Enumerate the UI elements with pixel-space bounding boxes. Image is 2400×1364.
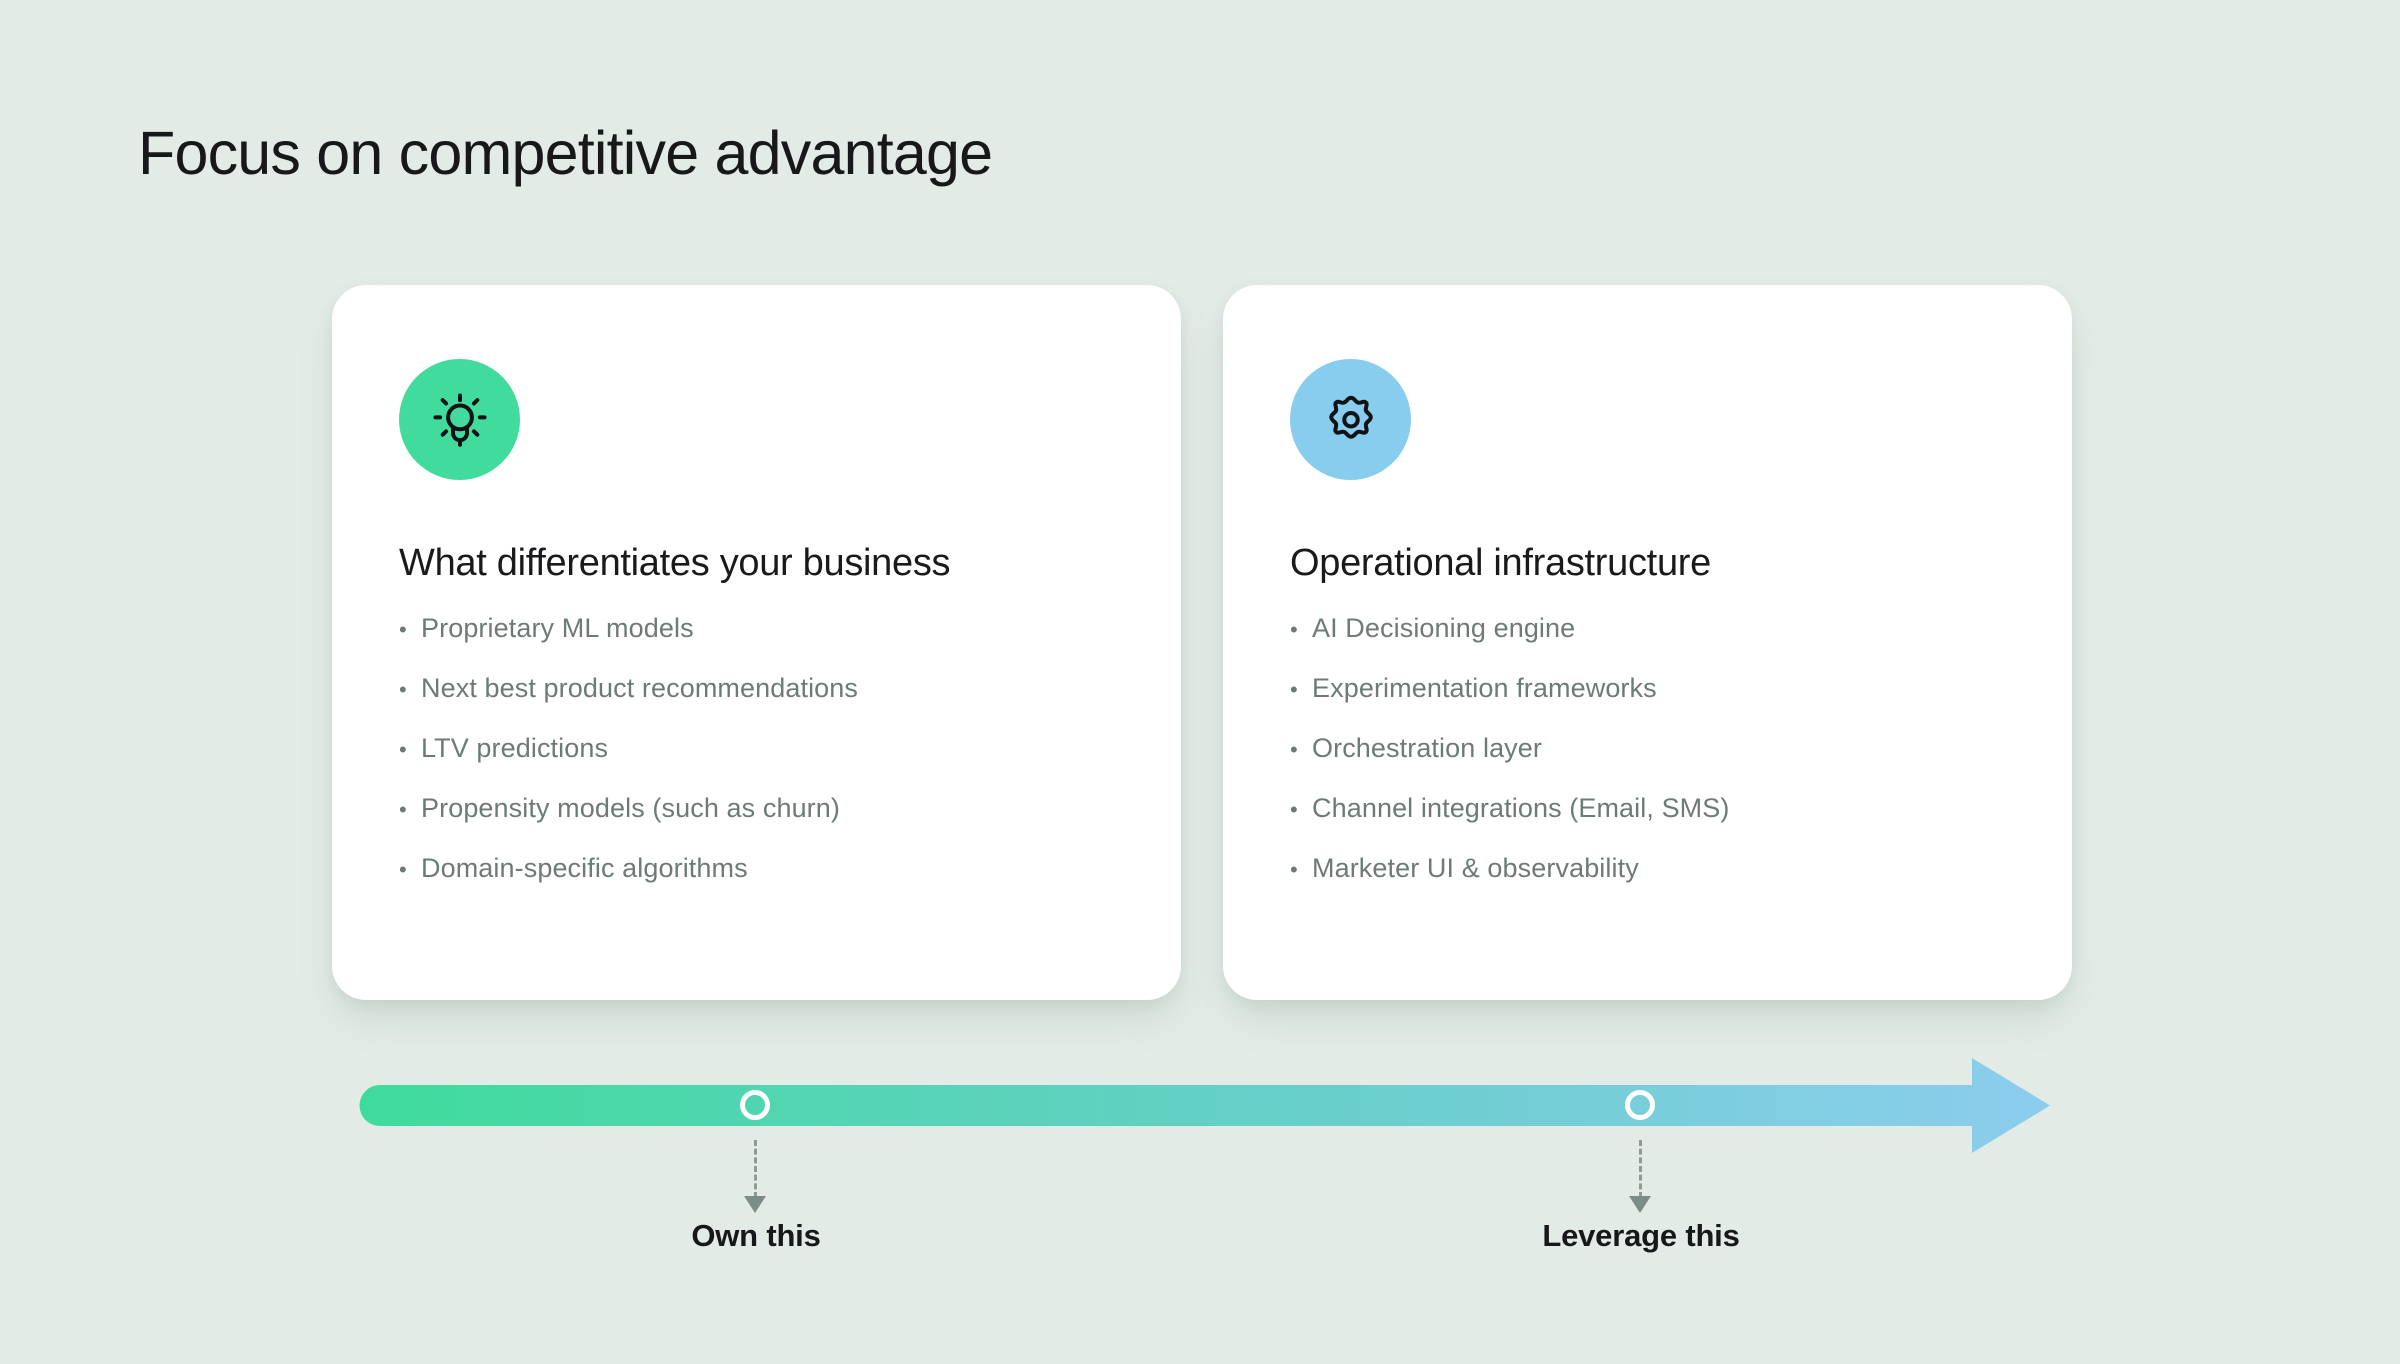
timeline-label-leverage: Leverage this bbox=[1542, 1218, 1739, 1254]
gradient-arrow bbox=[0, 0, 2400, 1364]
slide-canvas: Focus on competitive advantage What d bbox=[0, 0, 2400, 1364]
timeline-connector-leverage bbox=[1639, 1140, 1642, 1198]
timeline-marker-leverage[interactable] bbox=[1625, 1090, 1655, 1120]
timeline-connector-own bbox=[754, 1140, 757, 1198]
timeline-arrowhead-leverage bbox=[1629, 1196, 1651, 1213]
timeline-marker-own[interactable] bbox=[740, 1090, 770, 1120]
timeline-arrowhead-own bbox=[744, 1196, 766, 1213]
timeline-label-own: Own this bbox=[691, 1218, 820, 1254]
